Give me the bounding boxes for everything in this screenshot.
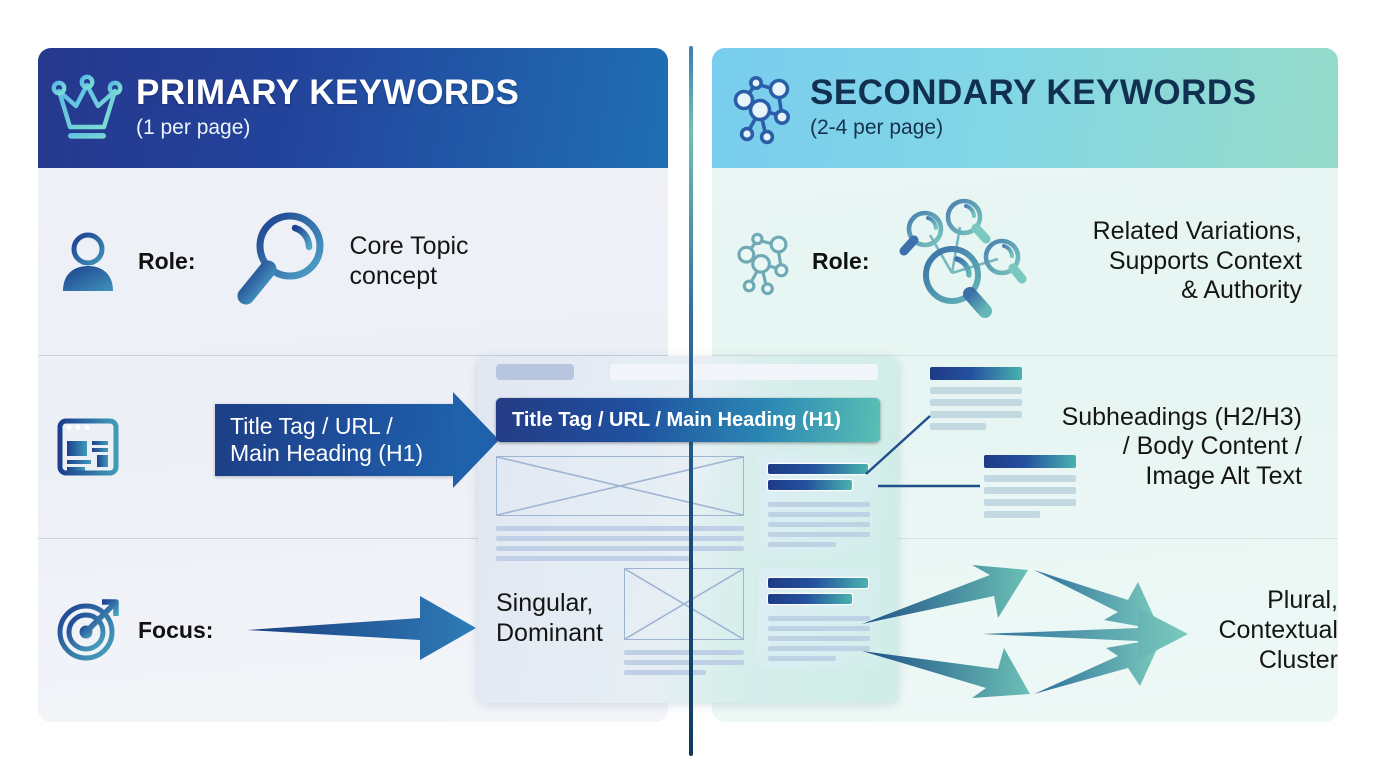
primary-focus-label: Focus: xyxy=(138,617,213,644)
sidebar-content-block xyxy=(758,568,880,668)
mockup-browser-bar xyxy=(478,356,898,384)
primary-role-label: Role: xyxy=(138,248,196,275)
mockup-heading-bar-top: Title Tag / URL / Main Heading (H1) xyxy=(496,398,880,442)
secondary-keywords-header: SECONDARY KEYWORDS (2-4 per page) xyxy=(712,48,1338,168)
target-icon xyxy=(38,598,138,662)
secondary-header-title: SECONDARY KEYWORDS xyxy=(810,75,1257,112)
secondary-role-label: Role: xyxy=(812,248,870,275)
infographic-canvas: PRIMARY KEYWORDS (1 per page) Role: xyxy=(0,0,1376,768)
callout-arrow-tip xyxy=(453,392,499,488)
secondary-onpage-value: Subheadings (H2/H3) / Body Content / Ima… xyxy=(1062,402,1338,491)
primary-focus-value: Singular, Dominant xyxy=(496,588,636,648)
content-blocks-icon xyxy=(930,367,1026,429)
magnifier-icon xyxy=(234,206,330,317)
sidebar-content-block xyxy=(758,454,880,554)
primary-onpage-callout: Title Tag / URL / Main Heading (H1) xyxy=(215,404,457,476)
person-icon xyxy=(38,231,138,293)
magnifier-cluster-icon xyxy=(892,195,1028,328)
image-placeholder xyxy=(624,568,744,640)
primary-role-value: Core Topic concept xyxy=(330,232,669,291)
primary-role-row: Role: Core Topic concept xyxy=(38,168,668,355)
primary-header-title: PRIMARY KEYWORDS xyxy=(136,75,519,112)
browser-window-icon xyxy=(38,416,138,478)
mockup-tab xyxy=(496,364,574,380)
image-placeholder xyxy=(496,456,744,516)
primary-onpage-callout-text: Title Tag / URL / Main Heading (H1) xyxy=(230,413,423,467)
secondary-focus-value: Plural, Contextual Cluster xyxy=(1038,585,1338,675)
secondary-header-subtitle: (2-4 per page) xyxy=(810,114,1257,141)
crown-icon xyxy=(38,73,136,143)
network-nodes-icon xyxy=(712,227,812,297)
secondary-role-row: Role: xyxy=(712,168,1338,355)
primary-header-subtitle: (1 per page) xyxy=(136,114,519,141)
mockup-address-bar xyxy=(610,364,878,380)
primary-keywords-header: PRIMARY KEYWORDS (1 per page) xyxy=(38,48,668,168)
network-nodes-icon xyxy=(712,70,810,146)
secondary-role-value: Related Variations, Supports Context & A… xyxy=(1028,217,1339,306)
